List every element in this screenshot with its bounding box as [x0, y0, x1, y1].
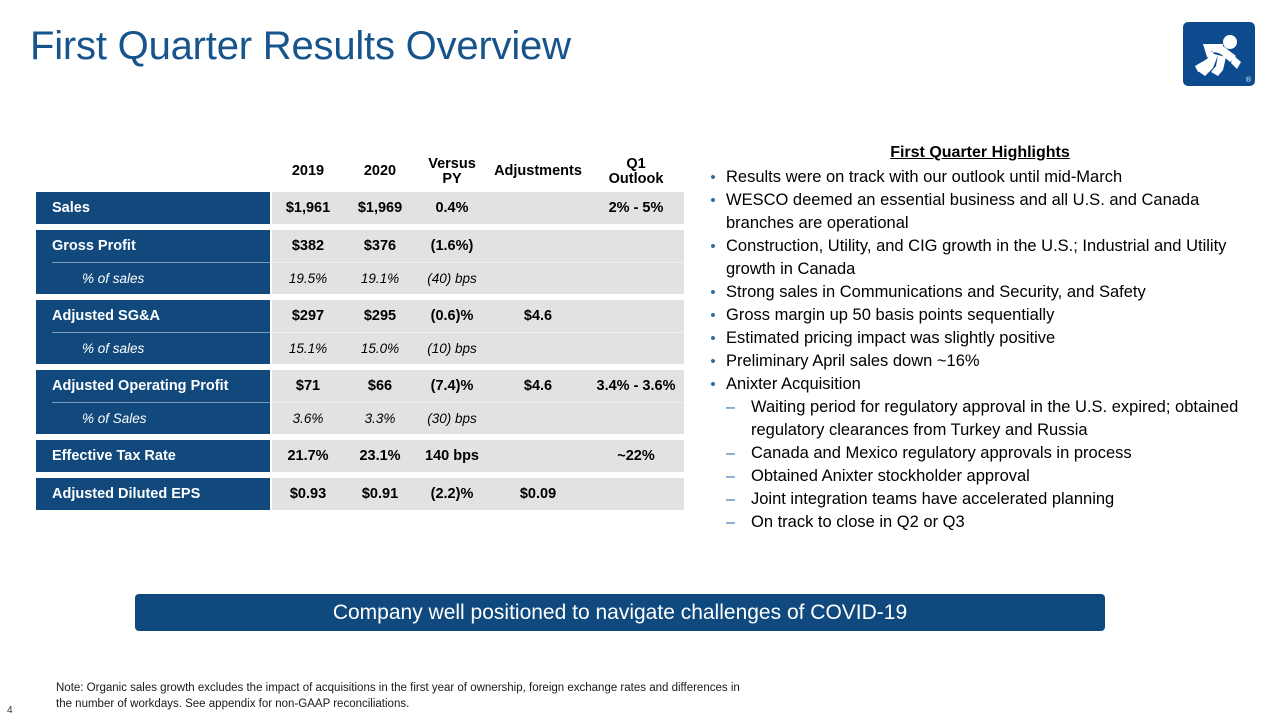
- bullet-icon: •: [700, 166, 726, 189]
- list-item-text: Estimated pricing impact was slightly po…: [726, 327, 1260, 350]
- table-row: Adjusted Diluted EPS $0.93 $0.91 (2.2)% …: [36, 478, 684, 510]
- column-header-q1-outlook-line1: Q1: [609, 157, 664, 172]
- cell-adjustments: $0.09: [488, 478, 588, 510]
- column-header-versus-py-line2: PY: [428, 172, 476, 187]
- subrow-label-cell: % of sales: [36, 262, 270, 294]
- bullet-icon: •: [700, 327, 726, 350]
- row-label: Adjusted Diluted EPS: [36, 486, 200, 502]
- table-header-row: 2019 2020 Versus PY Adjustments Q1 Outlo…: [36, 148, 684, 192]
- cell-2019: 19.5%: [272, 262, 344, 294]
- list-item: • Construction, Utility, and CIG growth …: [700, 235, 1260, 281]
- cell-adjustments: [488, 262, 588, 294]
- cell-versus-py: (7.4)%: [416, 370, 488, 402]
- page-number: 4: [7, 705, 13, 716]
- row-label: Adjusted SG&A: [36, 308, 160, 324]
- row-label: Effective Tax Rate: [36, 448, 176, 464]
- column-header-adjustments: Adjustments: [488, 157, 588, 192]
- cell-2020: 23.1%: [344, 440, 416, 472]
- bullet-icon: •: [700, 304, 726, 327]
- cell-q1-outlook: 3.4% - 3.6%: [588, 370, 684, 402]
- dash-bullet-icon: –: [726, 511, 751, 534]
- cell-2019: $1,961: [272, 192, 344, 224]
- bullet-icon: •: [700, 281, 726, 304]
- row-label: Adjusted Operating Profit: [36, 378, 228, 394]
- subrow-label-cell: % of sales: [36, 332, 270, 364]
- table-row: Sales $1,961 $1,969 0.4% 2% - 5%: [36, 192, 684, 224]
- cell-versus-py: (1.6%): [416, 230, 488, 262]
- sub-list-item: – Obtained Anixter stockholder approval: [700, 465, 1260, 488]
- cell-2020: 15.0%: [344, 332, 416, 364]
- cell-adjustments: [488, 230, 588, 262]
- cell-adjustments: [488, 192, 588, 224]
- cell-adjustments: [488, 332, 588, 364]
- cell-versus-py: (30) bps: [416, 402, 488, 434]
- cell-versus-py: 0.4%: [416, 192, 488, 224]
- bullet-icon: •: [700, 373, 726, 396]
- cell-2020: $376: [344, 230, 416, 262]
- sub-list-item-text: On track to close in Q2 or Q3: [751, 511, 1260, 534]
- cell-versus-py: (0.6)%: [416, 300, 488, 332]
- table-subrow: % of sales 15.1% 15.0% (10) bps: [36, 332, 684, 364]
- subrow-label: % of sales: [36, 271, 144, 286]
- dash-bullet-icon: –: [726, 442, 751, 465]
- cell-2019: 21.7%: [272, 440, 344, 472]
- column-header-q1-outlook-line2: Outlook: [609, 172, 664, 187]
- cell-q1-outlook: [588, 230, 684, 262]
- list-item: • Gross margin up 50 basis points sequen…: [700, 304, 1260, 327]
- row-label-cell: Effective Tax Rate: [36, 440, 270, 472]
- cell-2019: $71: [272, 370, 344, 402]
- list-item: • Estimated pricing impact was slightly …: [700, 327, 1260, 350]
- cell-q1-outlook: 2% - 5%: [588, 192, 684, 224]
- registered-trademark-mark: ®: [1246, 77, 1251, 84]
- row-label-cell: Adjusted Diluted EPS: [36, 478, 270, 510]
- first-quarter-highlights-panel: First Quarter Highlights • Results were …: [700, 144, 1260, 534]
- list-item-text: Strong sales in Communications and Secur…: [726, 281, 1260, 304]
- column-header-versus-py-line1: Versus: [428, 157, 476, 172]
- cell-2020: $1,969: [344, 192, 416, 224]
- page-title: First Quarter Results Overview: [30, 24, 571, 69]
- row-label-cell: Sales: [36, 192, 270, 224]
- column-header-2020: 2020: [344, 157, 416, 192]
- cell-adjustments: $4.6: [488, 370, 588, 402]
- cell-2020: $295: [344, 300, 416, 332]
- cell-adjustments: $4.6: [488, 300, 588, 332]
- cell-2019: 3.6%: [272, 402, 344, 434]
- cell-q1-outlook: ~22%: [588, 440, 684, 472]
- bullet-icon: •: [700, 235, 726, 258]
- cell-q1-outlook: [588, 262, 684, 294]
- cell-adjustments: [488, 402, 588, 434]
- list-item-text: Preliminary April sales down ~16%: [726, 350, 1260, 373]
- dash-bullet-icon: –: [726, 488, 751, 511]
- cell-q1-outlook: [588, 478, 684, 510]
- bullet-icon: •: [700, 350, 726, 373]
- cell-versus-py: (2.2)%: [416, 478, 488, 510]
- table-row: Adjusted Operating Profit $71 $66 (7.4)%…: [36, 370, 684, 402]
- list-item-text: Gross margin up 50 basis points sequenti…: [726, 304, 1260, 327]
- list-item: • Anixter Acquisition: [700, 373, 1260, 396]
- subrow-label-cell: % of Sales: [36, 402, 270, 434]
- cell-q1-outlook: [588, 332, 684, 364]
- cell-q1-outlook: [588, 402, 684, 434]
- highlights-title: First Quarter Highlights: [700, 144, 1260, 162]
- table-row: Gross Profit $382 $376 (1.6%): [36, 230, 684, 262]
- cell-2019: $382: [272, 230, 344, 262]
- cell-2020: 19.1%: [344, 262, 416, 294]
- cell-2019: $0.93: [272, 478, 344, 510]
- sub-list-item-text: Obtained Anixter stockholder approval: [751, 465, 1260, 488]
- sub-list-item-text: Canada and Mexico regulatory approvals i…: [751, 442, 1260, 465]
- cell-2020: $0.91: [344, 478, 416, 510]
- table-row: Effective Tax Rate 21.7% 23.1% 140 bps ~…: [36, 440, 684, 472]
- list-item: • Strong sales in Communications and Sec…: [700, 281, 1260, 304]
- row-label-cell: Gross Profit: [36, 230, 270, 262]
- cell-2020: $66: [344, 370, 416, 402]
- cell-q1-outlook: [588, 300, 684, 332]
- cell-adjustments: [488, 440, 588, 472]
- running-man-icon: [1183, 22, 1255, 86]
- wesco-logo: ®: [1183, 22, 1255, 86]
- row-label-cell: Adjusted SG&A: [36, 300, 270, 332]
- cell-2019: 15.1%: [272, 332, 344, 364]
- subrow-label: % of sales: [36, 341, 144, 356]
- bullet-icon: •: [700, 189, 726, 212]
- slide-root: First Quarter Results Overview ® 2019 20…: [0, 0, 1280, 720]
- list-item: • Results were on track with our outlook…: [700, 166, 1260, 189]
- cell-versus-py: 140 bps: [416, 440, 488, 472]
- sub-list-item-text: Waiting period for regulatory approval i…: [751, 396, 1260, 442]
- list-item: • Preliminary April sales down ~16%: [700, 350, 1260, 373]
- list-item-text: Anixter Acquisition: [726, 373, 1260, 396]
- cell-versus-py: (40) bps: [416, 262, 488, 294]
- sub-list-item: – Waiting period for regulatory approval…: [700, 396, 1260, 442]
- financial-metrics-table: 2019 2020 Versus PY Adjustments Q1 Outlo…: [36, 148, 684, 510]
- sub-list-item: – Joint integration teams have accelerat…: [700, 488, 1260, 511]
- list-item-text: Results were on track with our outlook u…: [726, 166, 1260, 189]
- list-item-text: WESCO deemed an essential business and a…: [726, 189, 1260, 235]
- table-row: Adjusted SG&A $297 $295 (0.6)% $4.6: [36, 300, 684, 332]
- row-label-cell: Adjusted Operating Profit: [36, 370, 270, 402]
- dash-bullet-icon: –: [726, 465, 751, 488]
- list-item-text: Construction, Utility, and CIG growth in…: [726, 235, 1260, 281]
- cell-versus-py: (10) bps: [416, 332, 488, 364]
- list-item: • WESCO deemed an essential business and…: [700, 189, 1260, 235]
- cell-2019: $297: [272, 300, 344, 332]
- dash-bullet-icon: –: [726, 396, 751, 419]
- column-header-2019: 2019: [272, 157, 344, 192]
- sub-list-item-text: Joint integration teams have accelerated…: [751, 488, 1260, 511]
- sub-list-item: – On track to close in Q2 or Q3: [700, 511, 1260, 534]
- row-label: Gross Profit: [36, 238, 136, 254]
- cell-2020: 3.3%: [344, 402, 416, 434]
- column-header-q1-outlook: Q1 Outlook: [588, 157, 684, 192]
- subrow-label: % of Sales: [36, 411, 147, 426]
- summary-banner: Company well positioned to navigate chal…: [135, 594, 1105, 631]
- column-header-versus-py: Versus PY: [416, 157, 488, 192]
- table-subrow: % of Sales 3.6% 3.3% (30) bps: [36, 402, 684, 434]
- table-subrow: % of sales 19.5% 19.1% (40) bps: [36, 262, 684, 294]
- footnote-text: Note: Organic sales growth excludes the …: [56, 680, 756, 712]
- summary-banner-text: Company well positioned to navigate chal…: [333, 601, 907, 625]
- row-label: Sales: [36, 200, 90, 216]
- sub-list-item: – Canada and Mexico regulatory approvals…: [700, 442, 1260, 465]
